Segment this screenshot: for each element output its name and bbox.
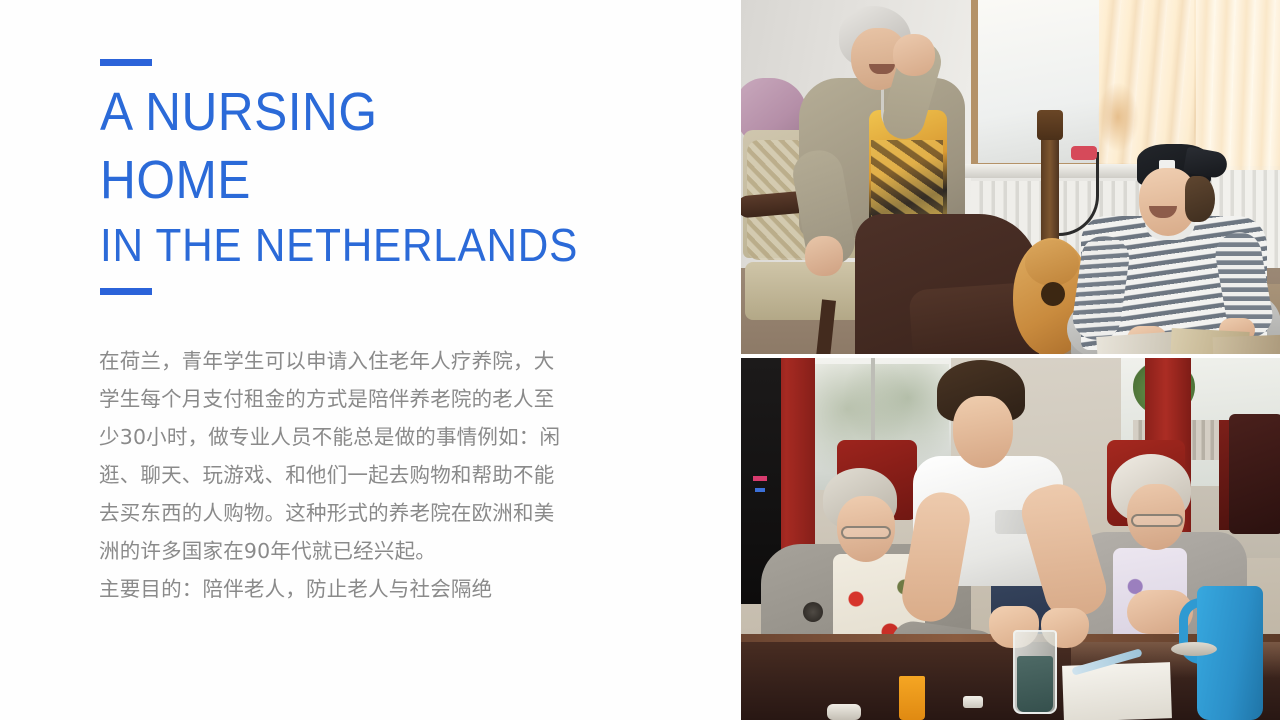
body-line: 少30小时，做专业人员不能总是做的事情例如：闲 xyxy=(99,418,591,456)
photo-column xyxy=(741,0,1280,720)
body-line: 学生每个月支付租金的方式是陪伴养老院的老人至 xyxy=(99,380,591,418)
body-line: 去买东西的人购物。这种形式的养老院在欧洲和美 xyxy=(99,494,591,532)
body-line-purpose: 主要目的：陪伴老人，防止老人与社会隔绝 xyxy=(99,570,591,608)
photo-young-man-helping-two-elderly-women-at-table xyxy=(741,358,1280,720)
text-panel: A NURSING HOME IN THE NETHERLANDS 在荷兰，青年… xyxy=(0,0,741,720)
title-line-2: HOME xyxy=(100,146,652,214)
guitar xyxy=(1041,130,1059,248)
title-line-1: A NURSING xyxy=(100,78,652,146)
photo-elderly-woman-laughing-with-young-man xyxy=(741,0,1280,354)
orange-juice-glass xyxy=(899,676,925,720)
accent-bar-bottom xyxy=(100,288,152,295)
body-line: 在荷兰，青年学生可以申请入住老年人疗养院，大 xyxy=(99,342,591,380)
title-line-3: IN THE NETHERLANDS xyxy=(100,214,652,276)
slide-root: A NURSING HOME IN THE NETHERLANDS 在荷兰，青年… xyxy=(0,0,1280,720)
body-line: 洲的许多国家在90年代就已经兴起。 xyxy=(99,532,591,570)
body-paragraph: 在荷兰，青年学生可以申请入住老年人疗养院，大 学生每个月支付租金的方式是陪伴养老… xyxy=(99,342,591,608)
page-title: A NURSING HOME IN THE NETHERLANDS xyxy=(100,78,700,276)
body-line: 逛、聊天、玩游戏、和他们一起去购物和帮助不能 xyxy=(99,456,591,494)
accent-bar-top xyxy=(100,59,152,66)
